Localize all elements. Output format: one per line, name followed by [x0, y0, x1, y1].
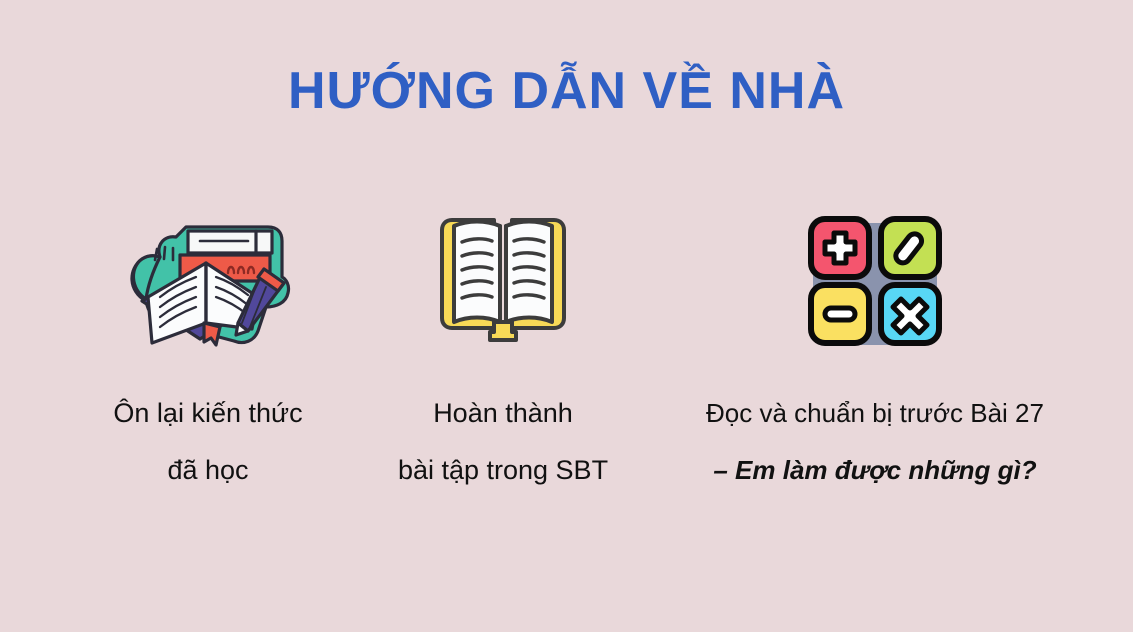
- caption-line-1: Đọc và chuẩn bị trước Bài 27: [645, 385, 1105, 442]
- books-stack-pencil-icon: [58, 205, 358, 355]
- caption-line-2: đã học: [58, 442, 358, 499]
- open-book-icon: [368, 205, 638, 355]
- caption-line-2: – Em làm được những gì?: [645, 442, 1105, 499]
- home-task-caption-2: Hoàn thành bài tập trong SBT: [368, 385, 638, 499]
- home-task-caption-3: Đọc và chuẩn bị trước Bài 27 – Em làm đư…: [645, 385, 1105, 499]
- home-task-column-3: Đọc và chuẩn bị trước Bài 27 – Em làm đư…: [645, 205, 1105, 499]
- caption-line-1: Ôn lại kiến thức: [58, 385, 358, 442]
- slide-title: HƯỚNG DẪN VỀ NHÀ: [0, 62, 1133, 120]
- home-task-column-1: Ôn lại kiến thức đã học: [58, 205, 358, 499]
- slide-canvas: HƯỚNG DẪN VỀ NHÀ: [0, 0, 1133, 632]
- calculator-operators-icon: [645, 205, 1105, 355]
- caption-line-2: bài tập trong SBT: [368, 442, 638, 499]
- home-task-caption-1: Ôn lại kiến thức đã học: [58, 385, 358, 499]
- home-task-column-2: Hoàn thành bài tập trong SBT: [368, 205, 638, 499]
- caption-line-1: Hoàn thành: [368, 385, 638, 442]
